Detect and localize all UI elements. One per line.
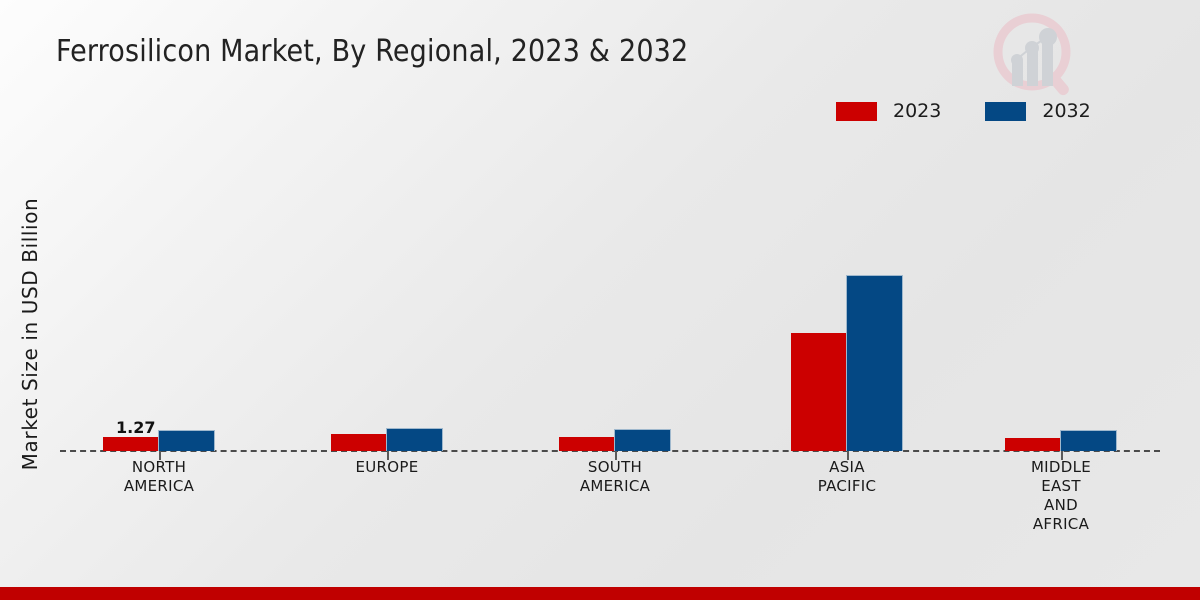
category-label-line: EAST [961,477,1161,496]
bar-group-north-america [103,191,215,451]
category-label-north-america: NORTH AMERICA [59,458,259,496]
value-label-north-america-2023: 1.27 [116,418,155,437]
bar-2032-asia-pacific[interactable] [846,275,903,451]
bar-2032-europe[interactable] [386,428,443,451]
plot-area: 1.27 NORTH AMERICA EUROPE SOUTH AMERICA [0,0,1200,600]
category-label-line: PACIFIC [747,477,947,496]
bar-2032-south-america[interactable] [614,429,671,451]
bar-group-asia-pacific [791,191,903,451]
bar-2023-middle-east-and-africa[interactable] [1005,438,1060,451]
chart-canvas: Ferrosilicon Market, By Regional, 2023 &… [0,0,1200,600]
category-label-europe: EUROPE [287,458,487,477]
category-label-south-america: SOUTH AMERICA [515,458,715,496]
bar-2023-south-america[interactable] [559,437,614,451]
category-label-asia-pacific: ASIA PACIFIC [747,458,947,496]
category-label-line: NORTH [59,458,259,477]
bar-2023-north-america[interactable] [103,437,158,451]
bar-2032-north-america[interactable] [158,430,215,451]
category-label-line: AMERICA [59,477,259,496]
bar-group-europe [331,191,443,451]
bar-2023-asia-pacific[interactable] [791,333,846,451]
category-label-line: EUROPE [287,458,487,477]
category-label-line: SOUTH [515,458,715,477]
bar-2023-europe[interactable] [331,434,386,451]
category-label-line: AMERICA [515,477,715,496]
category-label-middle-east-and-africa: MIDDLE EAST AND AFRICA [961,458,1161,534]
bar-group-middle-east-and-africa [1005,191,1117,451]
category-label-line: ASIA [747,458,947,477]
category-label-line: AFRICA [961,515,1161,534]
bottom-accent-strip [0,587,1200,600]
bar-group-south-america [559,191,671,451]
category-label-line: AND [961,496,1161,515]
bar-2032-middle-east-and-africa[interactable] [1060,430,1117,451]
category-label-line: MIDDLE [961,458,1161,477]
